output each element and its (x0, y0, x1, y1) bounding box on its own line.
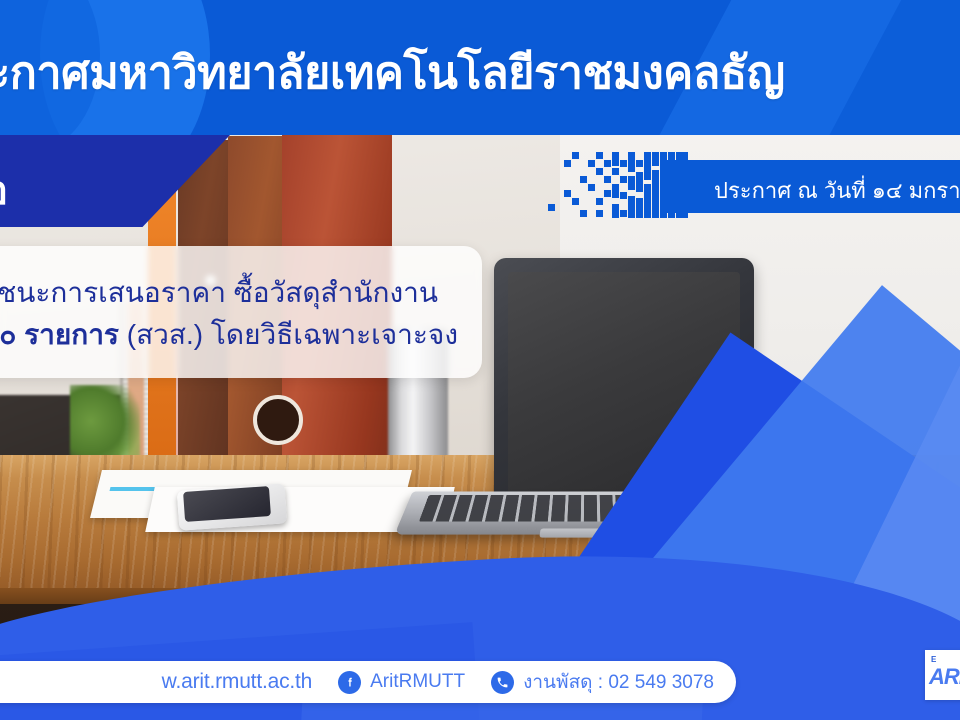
facebook-handle: AritRMUTT (370, 671, 465, 693)
announcement-method: (สวส.) โดยวิธีเฉพาะเจาะจง (127, 319, 458, 350)
phone-contact[interactable]: งานพัสดุ : 02 549 3078 (491, 667, 714, 697)
binder-finger-hole (253, 395, 303, 445)
smartphone-screen (183, 486, 271, 522)
page-title: ะกาศมหาวิทยาลัยเทคโนโลยีราชมงคลธัญ (0, 36, 960, 108)
website-link[interactable]: w.arit.rmutt.ac.th (162, 670, 312, 694)
logo-top-text: E (931, 655, 937, 664)
phone-number: งานพัสดุ : 02 549 3078 (523, 667, 714, 697)
facebook-contact[interactable]: AritRMUTT (338, 671, 465, 694)
arit-logo: E ARI (925, 650, 960, 700)
announcement-banner: ะกาศมหาวิทยาลัยเทคโนโลยีราชมงคลธัญ อ (0, 0, 960, 720)
announcement-date: ประกาศ ณ วันที่ ๑๔ มกรา (714, 173, 960, 208)
announcement-item-count: ๐ รายการ (0, 319, 119, 350)
facebook-icon (338, 671, 361, 694)
logo-main-text: ARI (929, 664, 960, 690)
announcement-subject-line1: ชนะการเสนอราคา ซื้อวัสดุสำนักงาน (0, 271, 490, 315)
announcement-subject-line2: ๐ รายการ (สวส.) โดยวิธีเฉพาะเจาะจง (0, 313, 490, 357)
contact-bar: w.arit.rmutt.ac.th AritRMUTT งานพัสดุ : … (0, 661, 736, 703)
phone-icon (491, 671, 514, 694)
navy-banner-number: อ (0, 158, 8, 222)
